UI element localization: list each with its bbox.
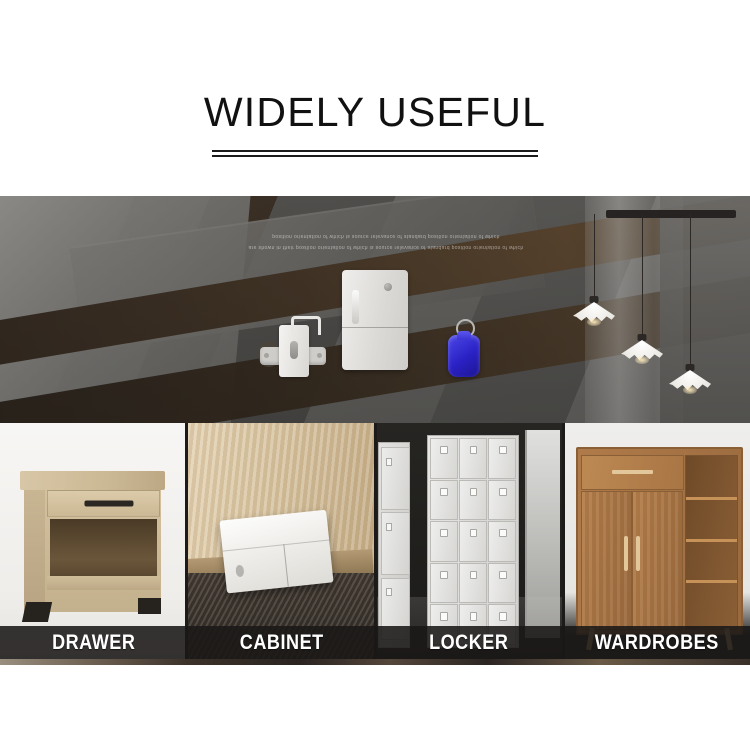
drawer-handle xyxy=(84,500,133,507)
lock-vertical-seam xyxy=(284,545,289,587)
hero-watermark-line-1: are shown in their position orientation … xyxy=(196,241,576,252)
lamp-cord xyxy=(642,214,643,334)
page-title: WIDELY USEFUL xyxy=(0,88,750,136)
lamp-cap xyxy=(590,296,599,303)
lock-horizontal-seam xyxy=(223,540,330,552)
locker-side-door xyxy=(381,512,410,575)
application-caption-bar: DRAWER CABINET LOCKER WARDROBES xyxy=(0,626,750,659)
nightstand-furniture xyxy=(24,471,161,616)
caption-wardrobes: WARDROBES xyxy=(576,631,737,655)
lamp-mounting-rail xyxy=(606,210,736,218)
hero-banner: are shown in their position orientation … xyxy=(0,196,750,423)
marketing-page: WIDELY USEFUL are shown in their positio… xyxy=(0,0,750,750)
keyfob-tag xyxy=(448,335,480,377)
title-block: WIDELY USEFUL xyxy=(0,88,750,157)
lock-hook xyxy=(291,316,321,335)
lamp-glow xyxy=(635,356,649,364)
nightstand-foot-left xyxy=(22,602,52,622)
locker-side-unit xyxy=(378,442,410,647)
lamp-cord xyxy=(594,214,595,296)
caption-drawer: DRAWER xyxy=(13,631,174,655)
nightstand-drawer xyxy=(47,490,160,517)
wardrobe-top-drawer xyxy=(581,455,684,490)
caption-locker: LOCKER xyxy=(388,631,549,655)
hero-watermark-line-2: position orientation of which is source … xyxy=(196,230,576,241)
lock-slot xyxy=(290,341,298,359)
lamp-glow xyxy=(683,386,697,394)
hero-watermark-text: are shown in their position orientation … xyxy=(196,230,576,252)
locker-door xyxy=(459,563,487,604)
divider-line-bottom xyxy=(212,155,538,157)
wardrobe-handle xyxy=(624,536,628,571)
lamp-cord xyxy=(690,214,691,364)
locker-main-unit xyxy=(427,435,520,648)
reader-led-icon xyxy=(384,283,392,291)
hero-product-group xyxy=(270,274,480,379)
wardrobe-cabinet xyxy=(576,447,743,635)
nightstand-top-surface xyxy=(20,471,165,490)
lock-body xyxy=(279,325,309,377)
reader-seam xyxy=(342,327,408,328)
divider-line-top xyxy=(212,150,538,152)
caption-cabinet: CABINET xyxy=(201,631,362,655)
locker-door xyxy=(459,521,487,562)
locker-door xyxy=(488,438,516,479)
nightstand-shelf-board xyxy=(47,576,159,591)
wardrobe-shelf xyxy=(686,580,737,583)
title-divider xyxy=(212,150,538,157)
locker-door xyxy=(430,480,458,521)
wardrobe-door-right xyxy=(632,491,683,629)
locker-door xyxy=(430,438,458,479)
nightstand-foot-right xyxy=(138,598,161,614)
wardrobe-handle xyxy=(636,536,640,571)
locker-door xyxy=(459,438,487,479)
cabinet-lock-product xyxy=(270,325,318,377)
locker-door xyxy=(488,480,516,521)
pendant-lamp-group xyxy=(584,202,744,412)
wardrobe-door-left xyxy=(581,491,632,629)
locker-door xyxy=(459,480,487,521)
installed-cabinet-lock xyxy=(220,510,334,593)
lock-screw-icon xyxy=(235,565,245,577)
wardrobe-open-shelves xyxy=(685,455,738,630)
locker-door xyxy=(488,563,516,604)
lamp-glow xyxy=(587,318,601,326)
nightstand-open-shelf xyxy=(50,519,157,577)
thumbnail-strip-bottom-edge xyxy=(0,659,750,665)
lamp-cap xyxy=(686,364,695,371)
rfid-keyfob-product xyxy=(448,319,480,377)
locker-door xyxy=(488,521,516,562)
lamp-cap xyxy=(638,334,647,341)
locker-side-door xyxy=(381,447,410,510)
wardrobe-shelf xyxy=(686,539,737,542)
locker-door xyxy=(430,563,458,604)
rfid-reader-product xyxy=(342,270,408,370)
wardrobe-shelf xyxy=(686,497,737,500)
locker-door xyxy=(430,521,458,562)
locker-glass-partition xyxy=(525,430,560,638)
reader-strip xyxy=(352,290,359,324)
nightstand-side-panel xyxy=(24,484,46,612)
